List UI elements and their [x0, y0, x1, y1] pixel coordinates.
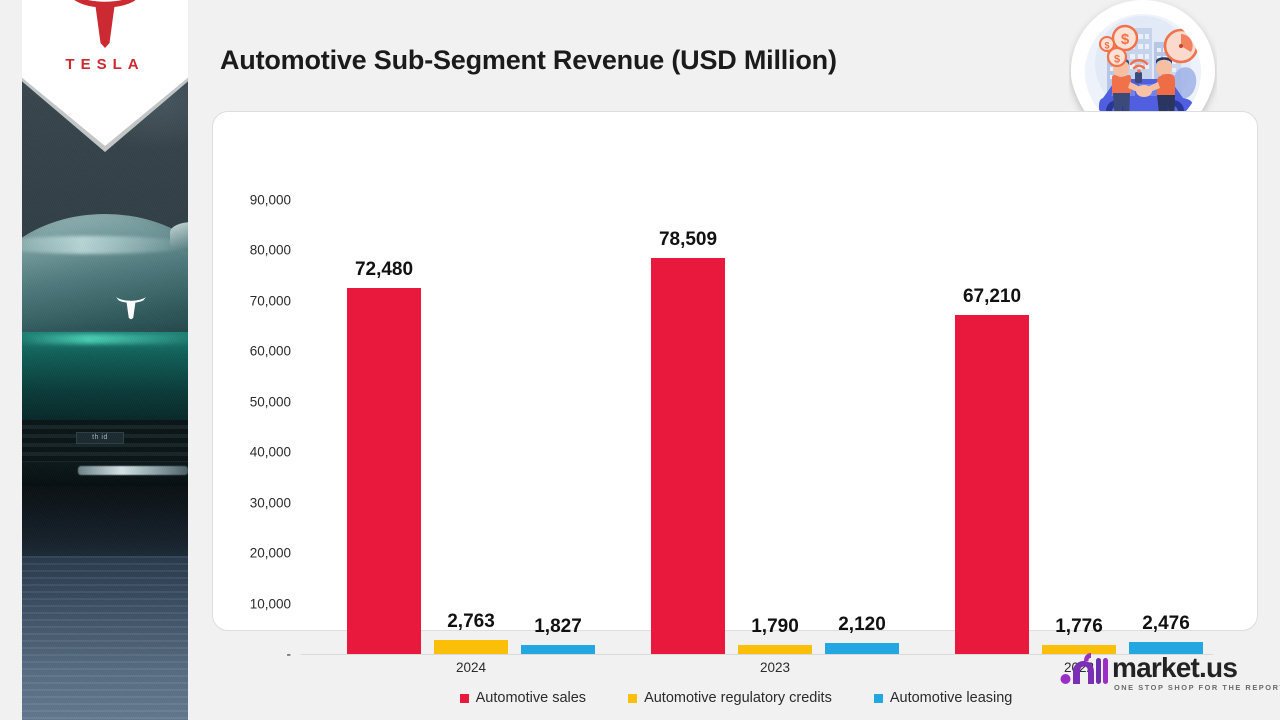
photo-water-reflection: [22, 556, 188, 720]
chart-card: 90,00080,00070,00060,00050,00040,00030,0…: [212, 111, 1258, 631]
tesla-wordmark: TESLA: [22, 56, 188, 73]
bar-value-label: 2,476: [1142, 613, 1190, 635]
bar-value-label: 72,480: [355, 259, 413, 281]
bar-2023-automotive-regulatory-credits[interactable]: 1,790: [738, 645, 812, 654]
page-title: Automotive Sub-Segment Revenue (USD Mill…: [220, 45, 837, 76]
photo-hood-highlight: [22, 236, 188, 254]
photo-license-plate: th id: [76, 432, 124, 444]
legend-item-automotive-regulatory-credits[interactable]: Automotive regulatory credits: [628, 690, 832, 706]
y-axis-tick: 90,000: [250, 193, 291, 208]
market-us-mark-icon: [1060, 652, 1108, 692]
legend-item-automotive-sales[interactable]: Automotive sales: [460, 690, 586, 706]
slide-root: th id TESLA Automotive Sub-Segment Reven…: [0, 0, 1280, 720]
bar-value-label: 2,763: [447, 611, 495, 633]
bar-value-label: 1,776: [1055, 616, 1103, 638]
y-axis-tick: 70,000: [250, 293, 291, 308]
y-axis-tick: 80,000: [250, 243, 291, 258]
photo-chrome-trim: [78, 466, 188, 475]
legend-swatch-icon: [628, 694, 637, 703]
legend-item-automotive-leasing[interactable]: Automotive leasing: [874, 690, 1013, 706]
y-axis-tick: -: [287, 647, 292, 662]
y-axis-tick: 30,000: [250, 495, 291, 510]
svg-text:$: $: [1104, 41, 1109, 51]
market-us-watermark: market.us ONE STOP SHOP FOR THE REPORTS: [1060, 652, 1260, 700]
bar-2023-automotive-sales[interactable]: 78,509: [651, 258, 725, 654]
photo-side-mirror: [170, 222, 188, 248]
y-axis-tick: 40,000: [250, 445, 291, 460]
photo-light-bar: [22, 334, 188, 344]
bar-value-label: 78,509: [659, 229, 717, 251]
chart-plot-area: 90,00080,00070,00060,00050,00040,00030,0…: [301, 144, 1213, 656]
y-axis-tick: 50,000: [250, 394, 291, 409]
market-us-wordmark: market.us: [1112, 652, 1237, 684]
x-axis-category-2024: 2024: [456, 660, 486, 675]
market-us-tagline: ONE STOP SHOP FOR THE REPORTS: [1114, 683, 1280, 692]
tesla-hood-badge-icon: [114, 294, 148, 320]
svg-text:$: $: [1114, 54, 1120, 66]
bar-2024-automotive-regulatory-credits[interactable]: 2,763: [434, 640, 508, 654]
bar-value-label: 1,790: [751, 616, 799, 638]
bar-2024-automotive-leasing[interactable]: 1,827: [521, 645, 595, 654]
bar-value-label: 2,120: [838, 614, 886, 636]
y-axis-tick: 10,000: [250, 596, 291, 611]
bar-2022-automotive-sales[interactable]: 67,210: [955, 315, 1029, 654]
legend-swatch-icon: [460, 694, 469, 703]
tesla-t-icon: [65, 0, 145, 50]
bar-value-label: 67,210: [963, 286, 1021, 308]
bar-2023-automotive-leasing[interactable]: 2,120: [825, 643, 899, 654]
legend-label: Automotive regulatory credits: [644, 690, 832, 706]
x-axis-category-2023: 2023: [760, 660, 790, 675]
legend-swatch-icon: [874, 694, 883, 703]
photo-car-front-fascia: [22, 332, 188, 432]
tesla-vehicle-photo-panel: th id TESLA: [22, 0, 188, 720]
svg-text:$: $: [1121, 31, 1130, 48]
bar-2024-automotive-sales[interactable]: 72,480: [347, 288, 421, 654]
y-axis-tick: 60,000: [250, 344, 291, 359]
y-axis-tick: 20,000: [250, 546, 291, 561]
bar-value-label: 1,827: [534, 616, 582, 638]
legend-label: Automotive sales: [476, 690, 586, 706]
legend-label: Automotive leasing: [890, 690, 1013, 706]
